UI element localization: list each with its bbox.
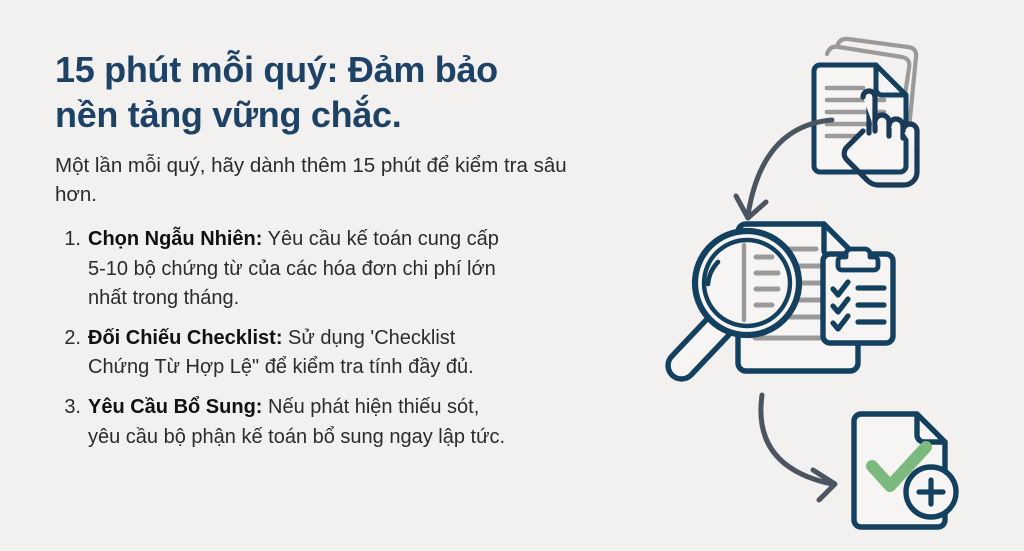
subtitle-text: Một lần mỗi quý, hãy dành thêm 15 phút đ… [55, 151, 575, 209]
plus-circle-badge-icon [906, 467, 956, 517]
step-label: Đối Chiếu Checklist: [88, 327, 282, 349]
list-item: 2. Đối Chiếu Checklist: Sử dụng 'Checkli… [55, 324, 600, 382]
magnifier-document-checklist-icon [668, 224, 893, 379]
step-number: 3. [55, 393, 88, 422]
step-body: Chọn Ngẫu Nhiên: Yêu cầu kế toán cung cấ… [88, 225, 508, 313]
clipboard-checklist-icon [823, 249, 893, 343]
step-number: 1. [55, 225, 88, 254]
page-title: 15 phút mỗi quý: Đảm bảo nền tảng vững c… [55, 48, 600, 137]
text-column: 15 phút mỗi quý: Đảm bảo nền tảng vững c… [55, 48, 600, 463]
step-body: Đối Chiếu Checklist: Sử dụng 'Checklist … [88, 324, 508, 382]
step-label: Yêu Cầu Bổ Sung: [88, 396, 262, 418]
approved-document-icon [854, 414, 956, 527]
step-label: Chọn Ngẫu Nhiên: [88, 228, 262, 250]
document-stack-with-hand-icon [814, 39, 917, 185]
arrow-down-right-icon [761, 395, 835, 500]
steps-list: 1. Chọn Ngẫu Nhiên: Yêu cầu kế toán cung… [55, 225, 600, 451]
infographic-slide: 15 phút mỗi quý: Đảm bảo nền tảng vững c… [0, 0, 1024, 551]
step-body: Yêu Cầu Bổ Sung: Nếu phát hiện thiếu sót… [88, 393, 508, 451]
process-illustration [620, 0, 1024, 551]
list-item: 1. Chọn Ngẫu Nhiên: Yêu cầu kế toán cung… [55, 225, 600, 313]
list-item: 3. Yêu Cầu Bổ Sung: Nếu phát hiện thiếu … [55, 393, 600, 451]
step-number: 2. [55, 324, 88, 353]
